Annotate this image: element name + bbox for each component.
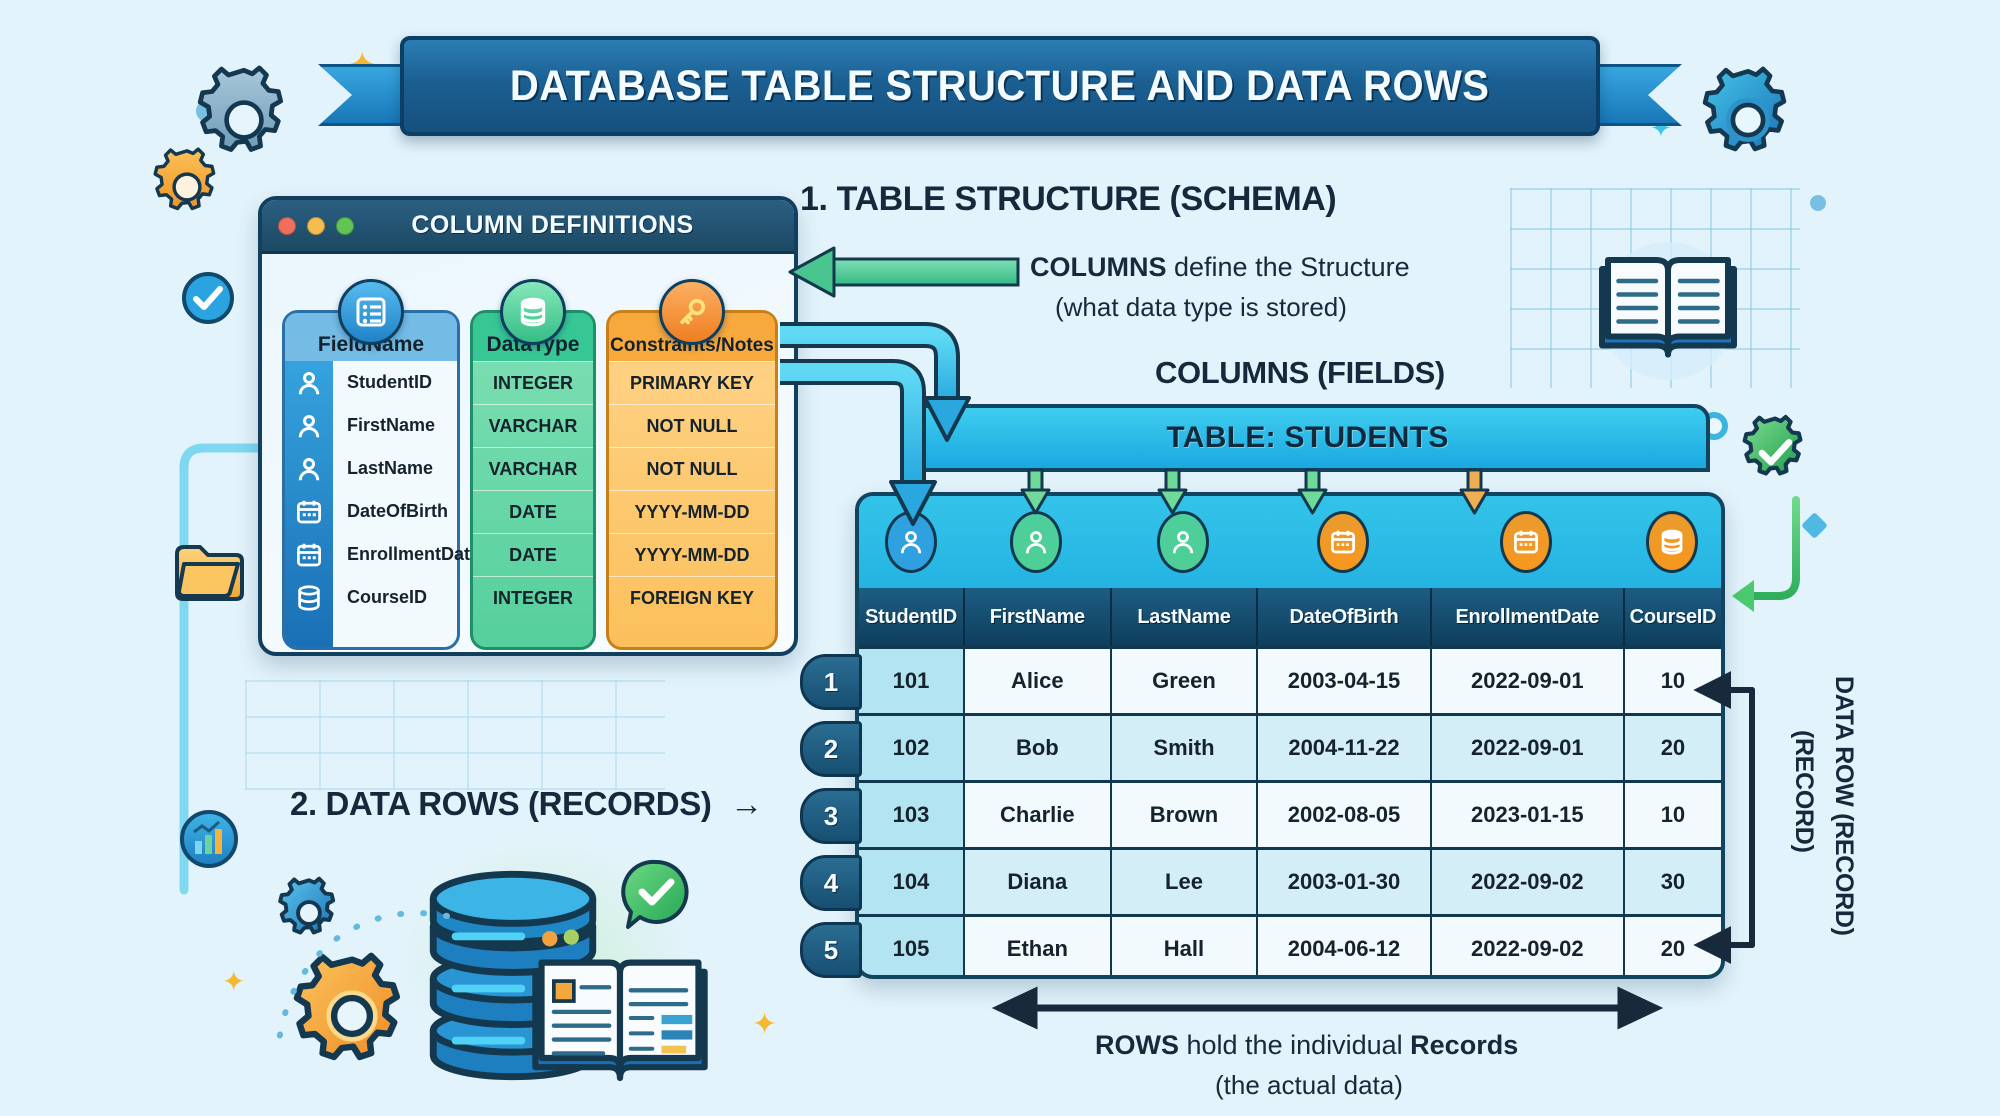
table-cell: Hall xyxy=(1110,917,1257,979)
table-cell: 30 xyxy=(1623,850,1721,914)
table-cell: 2022-09-02 xyxy=(1430,917,1623,979)
schema-cell-constraint: YYYY-MM-DD xyxy=(609,490,775,533)
table-cell: 10 xyxy=(1623,649,1721,713)
field-icon-gutter xyxy=(285,361,333,647)
schema-cell-constraint: FOREIGN KEY xyxy=(609,576,775,619)
schema-datatype-cells: INTEGERVARCHARVARCHARDATEDATEINTEGER xyxy=(473,361,593,619)
book-icon xyxy=(1578,218,1758,398)
user-icon xyxy=(294,454,324,484)
table-row[interactable]: 104DianaLee2003-01-302022-09-0230 xyxy=(859,847,1721,914)
table-row[interactable]: 103CharlieBrown2002-08-052023-01-1510 xyxy=(859,780,1721,847)
rows-note-mid: hold the individual xyxy=(1179,1030,1410,1060)
list-icon xyxy=(338,279,404,345)
background-grid-bottom-left xyxy=(245,680,665,790)
table-column-header[interactable]: FirstName xyxy=(963,588,1110,646)
table-cell: Smith xyxy=(1110,716,1257,780)
data-row-record-label-line2: (RECORD) xyxy=(1789,730,1818,853)
table-column-header[interactable]: StudentID xyxy=(859,588,963,646)
row-number-badge: 3 xyxy=(800,788,862,844)
students-table-title-bar: TABLE: STUDENTS xyxy=(905,404,1710,472)
table-cell: 101 xyxy=(859,649,963,713)
students-table-title: TABLE: STUDENTS xyxy=(1166,421,1448,455)
columns-note-line2: (what data type is stored) xyxy=(1055,292,1347,323)
schema-cell-type: INTEGER xyxy=(473,361,593,404)
data-rows-label: 2. DATA ROWS (RECORDS) xyxy=(290,785,711,822)
rows-note: ROWS hold the individual Records xyxy=(1095,1030,1518,1061)
minimize-icon[interactable] xyxy=(307,217,325,235)
columns-define-arrow xyxy=(790,248,1018,296)
table-cell: 105 xyxy=(859,917,963,979)
rows-note-bold2: Records xyxy=(1410,1030,1518,1060)
calendar-icon xyxy=(1500,511,1552,573)
table-cell: 2004-06-12 xyxy=(1256,917,1429,979)
title-banner: DATABASE TABLE STRUCTURE AND DATA ROWS xyxy=(400,36,1600,136)
students-table-icon-row xyxy=(859,496,1721,588)
database-icon xyxy=(1646,511,1698,573)
table-cell: 2023-01-15 xyxy=(1430,783,1623,847)
schema-cell-constraint: NOT NULL xyxy=(609,447,775,490)
table-cell: 103 xyxy=(859,783,963,847)
page-title: DATABASE TABLE STRUCTURE AND DATA ROWS xyxy=(510,62,1490,111)
schema-cell-constraint: YYYY-MM-DD xyxy=(609,533,775,576)
table-row[interactable]: 101AliceGreen2003-04-152022-09-0110 xyxy=(859,646,1721,713)
students-table[interactable]: StudentIDFirstNameLastNameDateOfBirthEnr… xyxy=(855,492,1725,979)
table-cell: 2022-09-01 xyxy=(1430,649,1623,713)
gear-icon xyxy=(144,144,230,230)
sparkle-icon: ✦ xyxy=(752,1010,777,1040)
table-cell: 10 xyxy=(1623,783,1721,847)
column-icon-cell xyxy=(1256,496,1429,588)
column-icon-cell xyxy=(859,496,963,588)
table-cell: 2004-11-22 xyxy=(1256,716,1429,780)
check-bubble-icon xyxy=(620,858,692,934)
calendar-icon xyxy=(294,497,324,527)
table-cell: 20 xyxy=(1623,716,1721,780)
table-cell: Bob xyxy=(963,716,1110,780)
close-icon[interactable] xyxy=(278,217,296,235)
gear-icon xyxy=(1690,62,1806,178)
green-curved-arrow xyxy=(1718,492,1828,692)
table-cell: 2002-08-05 xyxy=(1256,783,1429,847)
table-cell: Green xyxy=(1110,649,1257,713)
columns-note-bold: COLUMNS xyxy=(1030,252,1167,282)
bar-chart-badge-icon xyxy=(178,808,240,870)
row-number-badge: 4 xyxy=(800,855,862,911)
section-heading-structure: 1. TABLE STRUCTURE (SCHEMA) xyxy=(800,180,1336,219)
table-cell: Diana xyxy=(963,850,1110,914)
table-row[interactable]: 105EthanHall2004-06-122022-09-0220 xyxy=(859,914,1721,979)
table-column-header[interactable]: LastName xyxy=(1110,588,1257,646)
students-table-header-row: StudentIDFirstNameLastNameDateOfBirthEnr… xyxy=(859,588,1721,646)
user-icon xyxy=(294,411,324,441)
sparkle-icon: ✦ xyxy=(222,968,245,996)
rows-note-bold1: ROWS xyxy=(1095,1030,1179,1060)
table-cell: 102 xyxy=(859,716,963,780)
schema-cell-type: DATE xyxy=(473,490,593,533)
infographic-canvas: ✦ ✦ ✦ ✦ ✦ xyxy=(0,0,2000,1116)
students-table-body: 101AliceGreen2003-04-152022-09-0110102Bo… xyxy=(859,646,1721,979)
column-icon-cell xyxy=(1623,496,1721,588)
schema-constraints-cells: PRIMARY KEYNOT NULLNOT NULLYYYY-MM-DDYYY… xyxy=(609,361,775,619)
calendar-icon xyxy=(294,540,324,570)
schema-column-fieldname: FieldName StudentIDFirstNameLastNameDate… xyxy=(282,310,460,650)
banner-body: DATABASE TABLE STRUCTURE AND DATA ROWS xyxy=(400,36,1600,136)
column-icon-cell xyxy=(1430,496,1623,588)
data-row-record-label-line1: DATA ROW (RECORD) xyxy=(1829,676,1858,936)
section-heading-columns-fields: COLUMNS (FIELDS) xyxy=(1155,355,1445,391)
schema-cell-constraint: PRIMARY KEY xyxy=(609,361,775,404)
schema-cell-type: INTEGER xyxy=(473,576,593,619)
table-cell: 2022-09-01 xyxy=(1430,716,1623,780)
row-number-badge: 5 xyxy=(800,922,862,978)
table-cell: Lee xyxy=(1110,850,1257,914)
database-icon xyxy=(500,279,566,345)
columns-note-rest: define the Structure xyxy=(1167,252,1410,282)
schema-body: FieldName StudentIDFirstNameLastNameDate… xyxy=(262,254,794,652)
calendar-icon xyxy=(1317,511,1369,573)
schema-column-constraints: Constraints/Notes PRIMARY KEYNOT NULLNOT… xyxy=(606,310,778,650)
user-icon xyxy=(294,368,324,398)
decor-dot xyxy=(1810,195,1826,211)
rows-span-arrow xyxy=(1000,992,1655,1024)
table-column-header[interactable]: CourseID xyxy=(1623,588,1721,646)
schema-cell-type: VARCHAR xyxy=(473,447,593,490)
table-cell: 2003-01-30 xyxy=(1256,850,1429,914)
table-cell: 20 xyxy=(1623,917,1721,979)
key-icon xyxy=(659,279,725,345)
schema-cell-constraint: NOT NULL xyxy=(609,404,775,447)
table-column-header[interactable]: EnrollmentDate xyxy=(1430,588,1623,646)
table-cell: Charlie xyxy=(963,783,1110,847)
table-column-header[interactable]: DateOfBirth xyxy=(1256,588,1429,646)
column-definitions-window[interactable]: COLUMN DEFINITIONS FieldName xyxy=(258,196,798,656)
schema-cell-type: DATE xyxy=(473,533,593,576)
row-number-badge: 1 xyxy=(800,654,862,710)
window-titlebar: COLUMN DEFINITIONS xyxy=(262,200,794,254)
right-arrow-icon: → xyxy=(730,785,763,822)
table-cell: Ethan xyxy=(963,917,1110,979)
check-circle-icon xyxy=(180,270,236,326)
user-icon xyxy=(1157,511,1209,573)
rows-note-line2: (the actual data) xyxy=(1215,1070,1403,1101)
row-number-badge: 2 xyxy=(800,721,862,777)
check-gear-icon xyxy=(1734,412,1816,494)
table-cell: Alice xyxy=(963,649,1110,713)
column-icon-cell xyxy=(963,496,1110,588)
user-icon xyxy=(1010,511,1062,573)
database-icon xyxy=(294,583,324,613)
table-cell: 2022-09-02 xyxy=(1430,850,1623,914)
section-heading-data-rows: 2. DATA ROWS (RECORDS) → xyxy=(290,785,763,823)
schema-cell-type: VARCHAR xyxy=(473,404,593,447)
table-cell: Brown xyxy=(1110,783,1257,847)
dotted-path xyxy=(262,898,452,1068)
column-icon-cell xyxy=(1110,496,1257,588)
book-icon xyxy=(520,938,720,1098)
columns-note: COLUMNS define the Structure xyxy=(1030,252,1410,283)
user-icon xyxy=(885,511,937,573)
folder-icon xyxy=(172,540,246,602)
table-row[interactable]: 102BobSmith2004-11-222022-09-0120 xyxy=(859,713,1721,780)
window-title: COLUMN DEFINITIONS xyxy=(365,211,794,240)
maximize-icon[interactable] xyxy=(336,217,354,235)
schema-column-datatype: DataType INTEGERVARCHARVARCHARDATEDATEIN… xyxy=(470,310,596,650)
table-cell: 104 xyxy=(859,850,963,914)
table-cell: 2003-04-15 xyxy=(1256,649,1429,713)
